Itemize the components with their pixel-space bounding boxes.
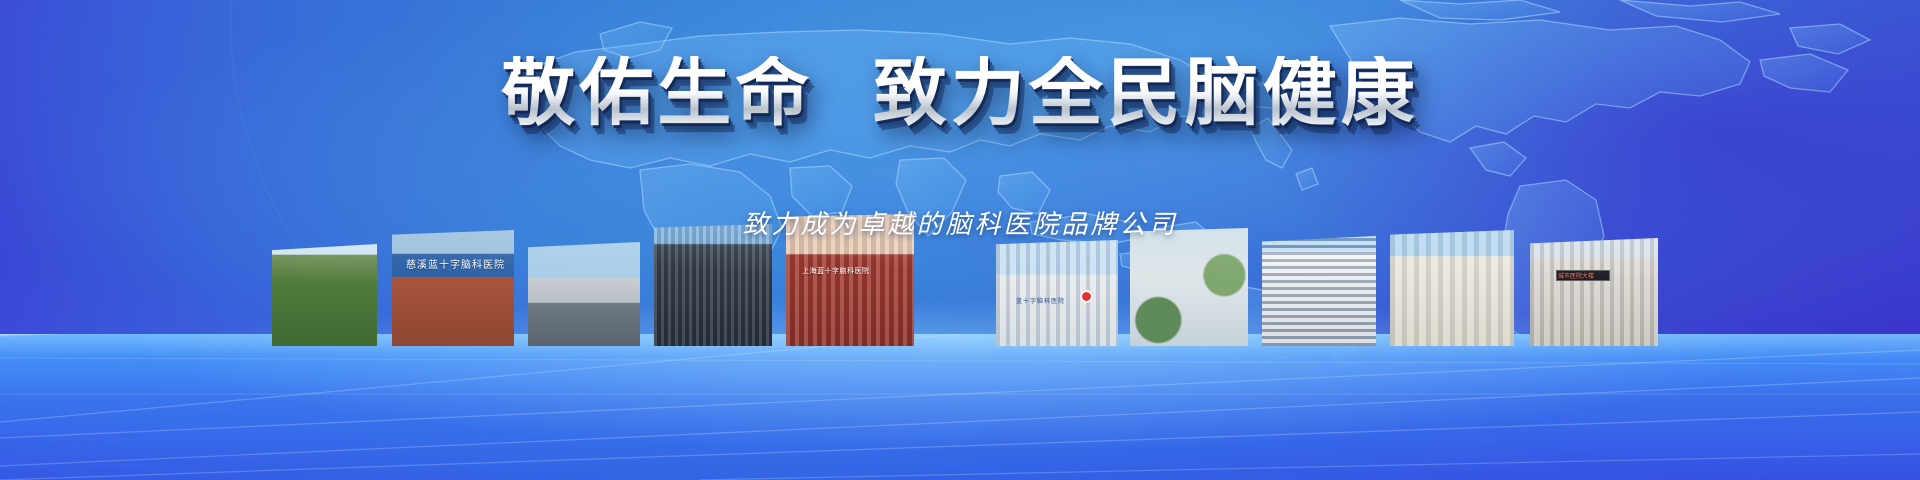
photo-6-image (996, 240, 1118, 346)
red-cross-icon (1080, 290, 1093, 303)
headline-container: 敬佑生命 致力全民脑健康 (0, 56, 1920, 130)
photo-10[interactable]: 城市医院大楼 (1530, 238, 1658, 346)
photo-3-image (528, 242, 640, 346)
photo-4-image (654, 224, 772, 346)
photo-10-image (1530, 238, 1658, 346)
photo-7[interactable] (1130, 228, 1248, 346)
photo-1[interactable] (272, 244, 377, 346)
photo-4[interactable] (654, 224, 772, 346)
page-title: 敬佑生命 致力全民脑健康 (501, 56, 1419, 130)
photo-8-image (1262, 236, 1376, 346)
photo-5-signboard-text: 上海蓝十字脑科医院 (802, 266, 870, 276)
photo-10-signboard-text: 城市医院大楼 (1558, 271, 1594, 280)
photo-9-image (1390, 230, 1514, 346)
photo-2[interactable]: 慈溪蓝十字脑科医院 (392, 230, 514, 346)
page-subtitle: 致力成为卓越的脑科医院品牌公司 (742, 204, 1177, 241)
subtitle-container: 致力成为卓越的脑科医院品牌公司 (0, 204, 1920, 241)
photo-6[interactable]: 蓝十字脑科医院 (996, 240, 1118, 346)
photo-2-image (392, 230, 514, 346)
hero-banner: 敬佑生命 致力全民脑健康 致力成为卓越的脑科医院品牌公司 慈溪蓝十字脑科医院 (0, 0, 1920, 480)
photo-6-signboard-text: 蓝十字脑科医院 (1016, 296, 1065, 305)
photo-3[interactable] (528, 242, 640, 346)
photo-2-signboard-text: 慈溪蓝十字脑科医院 (406, 256, 505, 271)
photo-9[interactable] (1390, 230, 1514, 346)
photo-7-image (1130, 228, 1248, 346)
photo-1-image (272, 244, 377, 346)
water-surface (0, 334, 1920, 480)
perspective-grid (0, 334, 1920, 480)
photo-8[interactable] (1262, 236, 1376, 346)
